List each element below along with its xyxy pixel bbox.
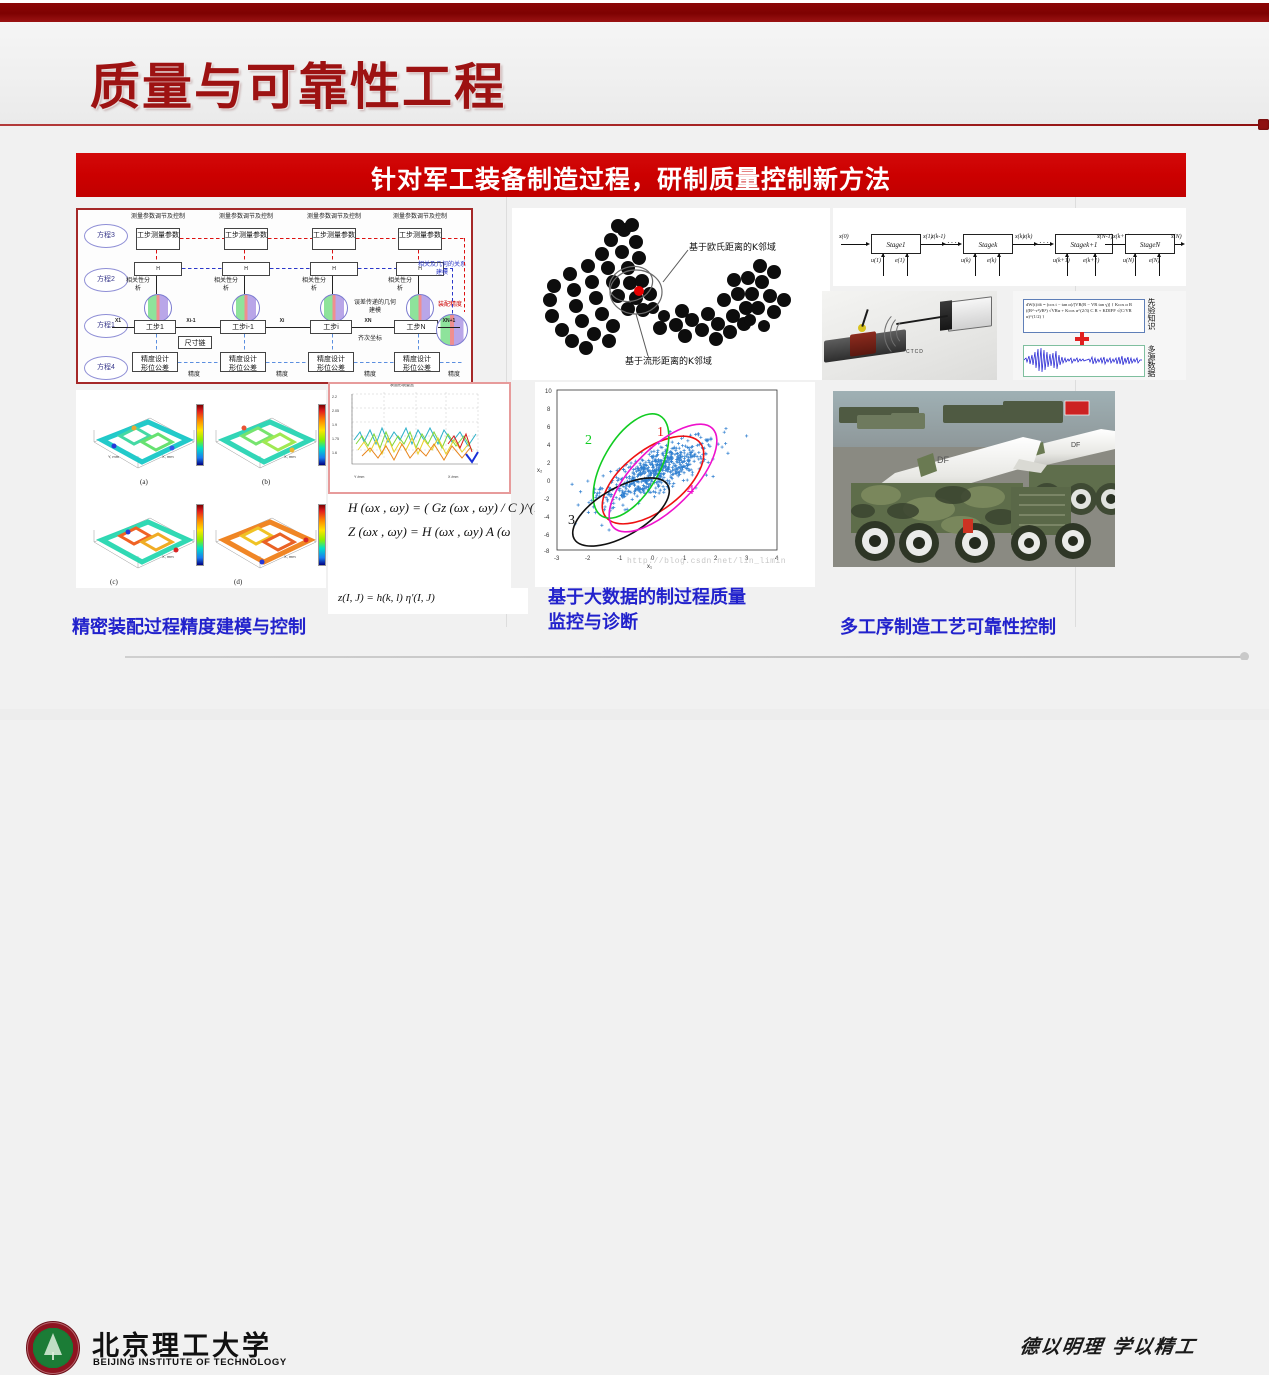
flow-tol-link-1 bbox=[178, 362, 220, 363]
surface-deviation-plots: (a) (b) (c) (d) X, mm Y, mm X, mm X, mm … bbox=[76, 390, 326, 588]
flow-tol-link-3 bbox=[354, 362, 394, 363]
relation-model-label: 相关及几何的关系建模 bbox=[416, 262, 468, 277]
stage-u-1 bbox=[883, 254, 884, 276]
slide-root: 质量与可靠性工程 针对军工装备制造过程，研制质量控制新方法 方程3 方程2 方程… bbox=[0, 0, 1269, 720]
stage-ellipsis-2: ··· bbox=[1039, 238, 1050, 247]
tolerance-box-3: 精度设计 形位公差 bbox=[308, 352, 354, 372]
svg-text:4: 4 bbox=[547, 443, 551, 449]
stage-in-3 bbox=[1031, 244, 1051, 245]
stage-ulab-2: u(k) bbox=[961, 258, 971, 264]
chart-watermark: http://blog.csdn.net/lin_limin bbox=[627, 557, 786, 566]
stage-u-arrow-1 bbox=[881, 253, 885, 257]
flow-col2-low bbox=[244, 334, 245, 352]
svg-text:0: 0 bbox=[547, 479, 551, 485]
signal-waveform-box bbox=[1023, 345, 1145, 377]
stage-xin-4: x(N-1) bbox=[1097, 234, 1113, 240]
step-box-1: 工步1 bbox=[134, 320, 176, 334]
stage-u-4 bbox=[1135, 254, 1136, 276]
equation-badge-2: 方程2 bbox=[84, 268, 128, 292]
signal-x4: XN bbox=[360, 318, 376, 326]
colorbar-1 bbox=[196, 404, 204, 466]
x-axis-label-d: X, mm bbox=[284, 554, 296, 559]
plus-icon-horizontal bbox=[1075, 337, 1089, 341]
h-box-2: H bbox=[222, 262, 270, 276]
equation-badge-4: 方程4 bbox=[84, 356, 128, 380]
stage-box-2: Stagek bbox=[963, 234, 1013, 254]
multistage-process-chain: Stage1 x(0) x(1) u(1) e(1) ··· Stagek x(… bbox=[833, 208, 1186, 286]
subcaption-a: (a) bbox=[140, 478, 148, 486]
stage-e-1 bbox=[907, 254, 908, 276]
svg-text:DF: DF bbox=[1071, 442, 1080, 449]
stage-u-arrow-4 bbox=[1133, 253, 1137, 257]
tolerance-line2: 形位公差 bbox=[229, 365, 257, 372]
banner-sign bbox=[1065, 401, 1089, 415]
equation-badge-3: 方程3 bbox=[84, 224, 128, 248]
subcaption-c: (c) bbox=[110, 578, 118, 586]
signal-x1: X1 bbox=[110, 318, 126, 326]
missile-photo-svg: DF bbox=[833, 391, 1115, 567]
stage-in-2 bbox=[937, 244, 959, 245]
stage-ulab-3: u(k+1) bbox=[1053, 258, 1070, 264]
svg-text:-6: -6 bbox=[544, 533, 550, 539]
scatter-cluster-chart: 1086 420 -2-4-6 -8 -3-2-1 012 34 1 2 3 4… bbox=[535, 382, 815, 587]
svg-text:-8: -8 bbox=[544, 549, 550, 555]
section-banner: 针对军工装备制造过程，研制质量控制新方法 bbox=[76, 153, 1186, 197]
stage-e-2 bbox=[999, 254, 1000, 276]
measure-box-1: 工步测量参数 bbox=[136, 228, 180, 250]
h-box-1: H bbox=[134, 262, 182, 276]
dimension-chain-box: 尺寸链 bbox=[178, 336, 212, 349]
stage-xin-3: x(k) bbox=[1023, 234, 1032, 240]
stage-ulab-4: u(N) bbox=[1123, 258, 1134, 264]
stage-xin-1: x(0) bbox=[839, 234, 849, 240]
step-box-3: 工步i bbox=[310, 320, 352, 334]
x-axis-label-c: X, mm bbox=[162, 554, 174, 559]
geom-model-label: 误差传递的几何建模 bbox=[354, 300, 396, 315]
stage-e-arrow-3 bbox=[1093, 253, 1097, 257]
missile-launcher-photo: DF bbox=[833, 391, 1115, 567]
wireless-sensor-photo: CTCD bbox=[822, 291, 997, 380]
manifold-neighborhood-diagram: 基于欧氏距离的K邻域 基于流形距离的K邻域 bbox=[512, 208, 830, 380]
y-axis-title: x₂ bbox=[537, 468, 543, 474]
svg-text:6: 6 bbox=[547, 425, 551, 431]
tolerance-line2: 形位公差 bbox=[317, 365, 345, 372]
stage-in-4 bbox=[1105, 244, 1123, 245]
flow-sig-1 bbox=[112, 327, 134, 328]
flow-col2-up bbox=[244, 250, 245, 262]
stage-elab-2: e(k) bbox=[987, 258, 996, 264]
stage-e-arrow-1 bbox=[905, 253, 909, 257]
measure-note-2: 测量参数调节及控制 bbox=[218, 214, 274, 222]
colorbar-3 bbox=[196, 504, 204, 566]
formula-discrete: z(I, J) = h(k, l) η'(I, J) bbox=[338, 592, 435, 604]
y-axis-label-a: Y, mm bbox=[108, 454, 119, 459]
svg-text:8: 8 bbox=[547, 407, 551, 413]
flow-col1-mid bbox=[156, 276, 157, 294]
svg-text:10: 10 bbox=[545, 389, 552, 395]
title-zone: 质量与可靠性工程 bbox=[0, 22, 1269, 125]
label-manifold-neighborhood: 基于流形距离的K邻域 bbox=[625, 354, 712, 367]
sensor-antenna bbox=[861, 309, 868, 327]
x-axis-label-a: X, mm bbox=[162, 454, 174, 459]
accuracy-label-4: 精度 bbox=[442, 372, 466, 380]
title-divider-marker bbox=[1258, 119, 1269, 130]
svg-text:-3: -3 bbox=[554, 556, 560, 562]
flow-blue-link-3 bbox=[358, 268, 396, 269]
stage-e-arrow-4 bbox=[1157, 253, 1161, 257]
colorbar-2 bbox=[318, 404, 326, 466]
formula-transfer-z: Z (ωx , ωy) = H (ωx , ωy) A (ω bbox=[348, 524, 510, 540]
step-box-2: 工步i-1 bbox=[220, 320, 266, 334]
svg-text:-1: -1 bbox=[617, 556, 623, 562]
flow-tol-link-4 bbox=[440, 362, 464, 363]
caption-middle-line1: 基于大数据的制过程质量 bbox=[548, 585, 746, 610]
flow-red-link-1 bbox=[180, 238, 224, 239]
multisource-data-label: 多源数据 bbox=[1147, 345, 1156, 377]
tolerance-line1: 精度设计 bbox=[229, 356, 257, 363]
sensor-cap bbox=[850, 331, 876, 357]
stage-elab-1: e(1) bbox=[895, 258, 905, 264]
measure-box-4: 工步测量参数 bbox=[398, 228, 442, 250]
svg-text:-2: -2 bbox=[544, 497, 550, 503]
tolerance-line1: 精度设计 bbox=[141, 356, 169, 363]
formula-transfer-h: H (ωx , ωy) = ( Gz (ωx , ωy) / C )^(1/2) bbox=[348, 500, 555, 516]
stage-box-4: StageN bbox=[1125, 234, 1175, 254]
stage-out-arrow-4 bbox=[1181, 242, 1185, 246]
stage-xin-2: x(k-1) bbox=[931, 234, 945, 240]
bit-logo-ring bbox=[27, 1322, 79, 1374]
corr-label-1: 相关性分析 bbox=[124, 278, 152, 293]
flow-col4-low bbox=[418, 334, 419, 352]
stage-in-arrow-1 bbox=[866, 242, 870, 246]
section-banner-text: 针对军工装备制造过程，研制质量控制新方法 bbox=[76, 160, 1186, 196]
tolerance-line1: 精度设计 bbox=[403, 356, 431, 363]
stage-u-arrow-3 bbox=[1065, 253, 1069, 257]
stage-in-arrow-3 bbox=[1050, 242, 1054, 246]
tolerance-line1: 精度设计 bbox=[317, 356, 345, 363]
svg-text:-2: -2 bbox=[585, 556, 591, 562]
flow-sig-3 bbox=[266, 327, 310, 328]
caption-left: 精密装配过程精度建模与控制 bbox=[72, 615, 306, 640]
university-name-en: BEIJING INSTITUTE OF TECHNOLOGY bbox=[93, 1357, 287, 1368]
homog-coord-label: 齐次坐标 bbox=[350, 336, 390, 344]
colorbar-4 bbox=[318, 504, 326, 566]
stage-in-arrow-2 bbox=[958, 242, 962, 246]
university-motto: 德以明理 学以精工 bbox=[1018, 1332, 1198, 1359]
stage-xout-4: x(N) bbox=[1171, 234, 1182, 240]
highlight-point bbox=[634, 286, 644, 296]
flow-red-link-3 bbox=[356, 238, 398, 239]
tolerance-line2: 形位公差 bbox=[141, 365, 169, 372]
x-axis-label-b: X, mm bbox=[284, 454, 296, 459]
formula-discrete-panel: z(I, J) = h(k, l) η'(I, J) bbox=[328, 588, 528, 614]
tolerance-box-1: 精度设计 形位公差 bbox=[132, 352, 178, 372]
footer-divider bbox=[125, 656, 1245, 658]
signal-x5: XN+1 bbox=[438, 318, 460, 326]
caption-right: 多工序制造工艺可靠性控制 bbox=[840, 615, 1056, 640]
flow-col4-mid bbox=[418, 276, 419, 294]
cluster-label-3: 3 bbox=[568, 513, 575, 528]
signal-x3: Xi bbox=[274, 318, 290, 326]
tolerance-box-2: 精度设计 形位公差 bbox=[220, 352, 266, 372]
cluster-label-2: 2 bbox=[585, 433, 592, 448]
flow-col3-up bbox=[332, 250, 333, 262]
stage-elab-3: e(k+1) bbox=[1083, 258, 1099, 264]
flow-sig-2 bbox=[176, 327, 220, 328]
cluster-label-4: 4 bbox=[687, 483, 694, 498]
measure-note-1: 测量参数调节及控制 bbox=[130, 214, 186, 222]
flow-col4-up bbox=[418, 250, 419, 262]
tolerance-line2: 形位公差 bbox=[403, 365, 431, 372]
measure-box-2: 工步测量参数 bbox=[224, 228, 268, 250]
accuracy-label-2: 精度 bbox=[270, 372, 294, 380]
corr-label-2: 相关性分析 bbox=[212, 278, 240, 293]
title-divider bbox=[0, 124, 1262, 126]
flow-sig-4 bbox=[352, 327, 394, 328]
cluster-label-1: 1 bbox=[657, 425, 664, 440]
flow-red-link-2 bbox=[268, 238, 312, 239]
rough-surface-frame bbox=[328, 382, 511, 494]
distribution-circle-2 bbox=[232, 294, 260, 322]
flow-col1-low bbox=[156, 334, 157, 352]
stage-ulab-1: u(1) bbox=[871, 258, 881, 264]
flow-red-link-4 bbox=[442, 238, 464, 239]
flow-blue-link-1 bbox=[182, 268, 222, 269]
vibration-waveform bbox=[1024, 346, 1142, 374]
stage-u-2 bbox=[975, 254, 976, 276]
prior-knowledge-panel: dW(t)/dt = (cos t − tan α)/[VR(R − VR ta… bbox=[1013, 291, 1186, 380]
accuracy-label-1: 精度 bbox=[182, 372, 206, 380]
receiver-body bbox=[948, 296, 992, 331]
svg-text:-4: -4 bbox=[544, 515, 550, 521]
measure-note-3: 测量参数调节及控制 bbox=[306, 214, 362, 222]
stage-e-arrow-2 bbox=[997, 253, 1001, 257]
stage-elab-4: e(N) bbox=[1149, 258, 1160, 264]
flow-col2-mid bbox=[244, 276, 245, 294]
stage-ellipsis-1: ··· bbox=[947, 238, 958, 247]
label-euclid-neighborhood: 基于欧氏距离的K邻域 bbox=[689, 240, 776, 253]
distribution-circle-3 bbox=[320, 294, 348, 322]
step-box-4: 工步N bbox=[394, 320, 438, 334]
stage-box-1: Stage1 bbox=[871, 234, 921, 254]
flow-tol-link-2 bbox=[266, 362, 308, 363]
corr-label-4: 相关性分析 bbox=[386, 278, 414, 293]
measure-box-3: 工步测量参数 bbox=[312, 228, 356, 250]
signal-x2: Xi-1 bbox=[182, 318, 200, 326]
stage-in-1 bbox=[841, 244, 867, 245]
prior-formula-text: dW(t)/dt = (cos t − tan α)/[VR(R − VR ta… bbox=[1024, 300, 1146, 322]
svg-text:2: 2 bbox=[547, 461, 551, 467]
prior-formula-box: dW(t)/dt = (cos t − tan α)/[VR(R − VR ta… bbox=[1023, 299, 1145, 333]
bit-logo-icon bbox=[26, 1321, 80, 1375]
flow-col1-up bbox=[156, 250, 157, 262]
flow-blue-link-4 bbox=[444, 268, 452, 269]
h-box-3: H bbox=[310, 262, 358, 276]
distribution-circle-1 bbox=[144, 294, 172, 322]
svg-text:DF: DF bbox=[937, 455, 949, 465]
accuracy-label-3: 精度 bbox=[358, 372, 382, 380]
measure-note-4: 测量参数调节及控制 bbox=[392, 214, 448, 222]
flow-col3-mid bbox=[332, 276, 333, 294]
caption-middle-line2: 监控与诊断 bbox=[548, 610, 638, 635]
flow-sig-5 bbox=[438, 327, 460, 328]
subcaption-d: (d) bbox=[234, 578, 242, 586]
precision-flow-diagram: 方程3 方程2 方程1 方程4 测量参数调节及控制 工步测量参数 H 相关性分析… bbox=[76, 208, 473, 384]
footer-bottom-strip bbox=[0, 709, 1269, 720]
top-accent-bar bbox=[0, 3, 1269, 22]
prior-knowledge-label: 先验知识 bbox=[1147, 298, 1156, 330]
flow-col3-low bbox=[332, 334, 333, 352]
page-title: 质量与可靠性工程 bbox=[90, 58, 506, 116]
tolerance-box-4: 精度设计 形位公差 bbox=[394, 352, 440, 372]
stage-u-arrow-2 bbox=[973, 253, 977, 257]
flow-blue-down bbox=[452, 268, 453, 314]
flow-red-down bbox=[464, 238, 465, 312]
flow-blue-link-2 bbox=[270, 268, 310, 269]
subcaption-b: (b) bbox=[262, 478, 270, 486]
corr-label-3: 相关性分析 bbox=[300, 278, 328, 293]
sensor-wave-label: CTCD bbox=[906, 349, 924, 355]
